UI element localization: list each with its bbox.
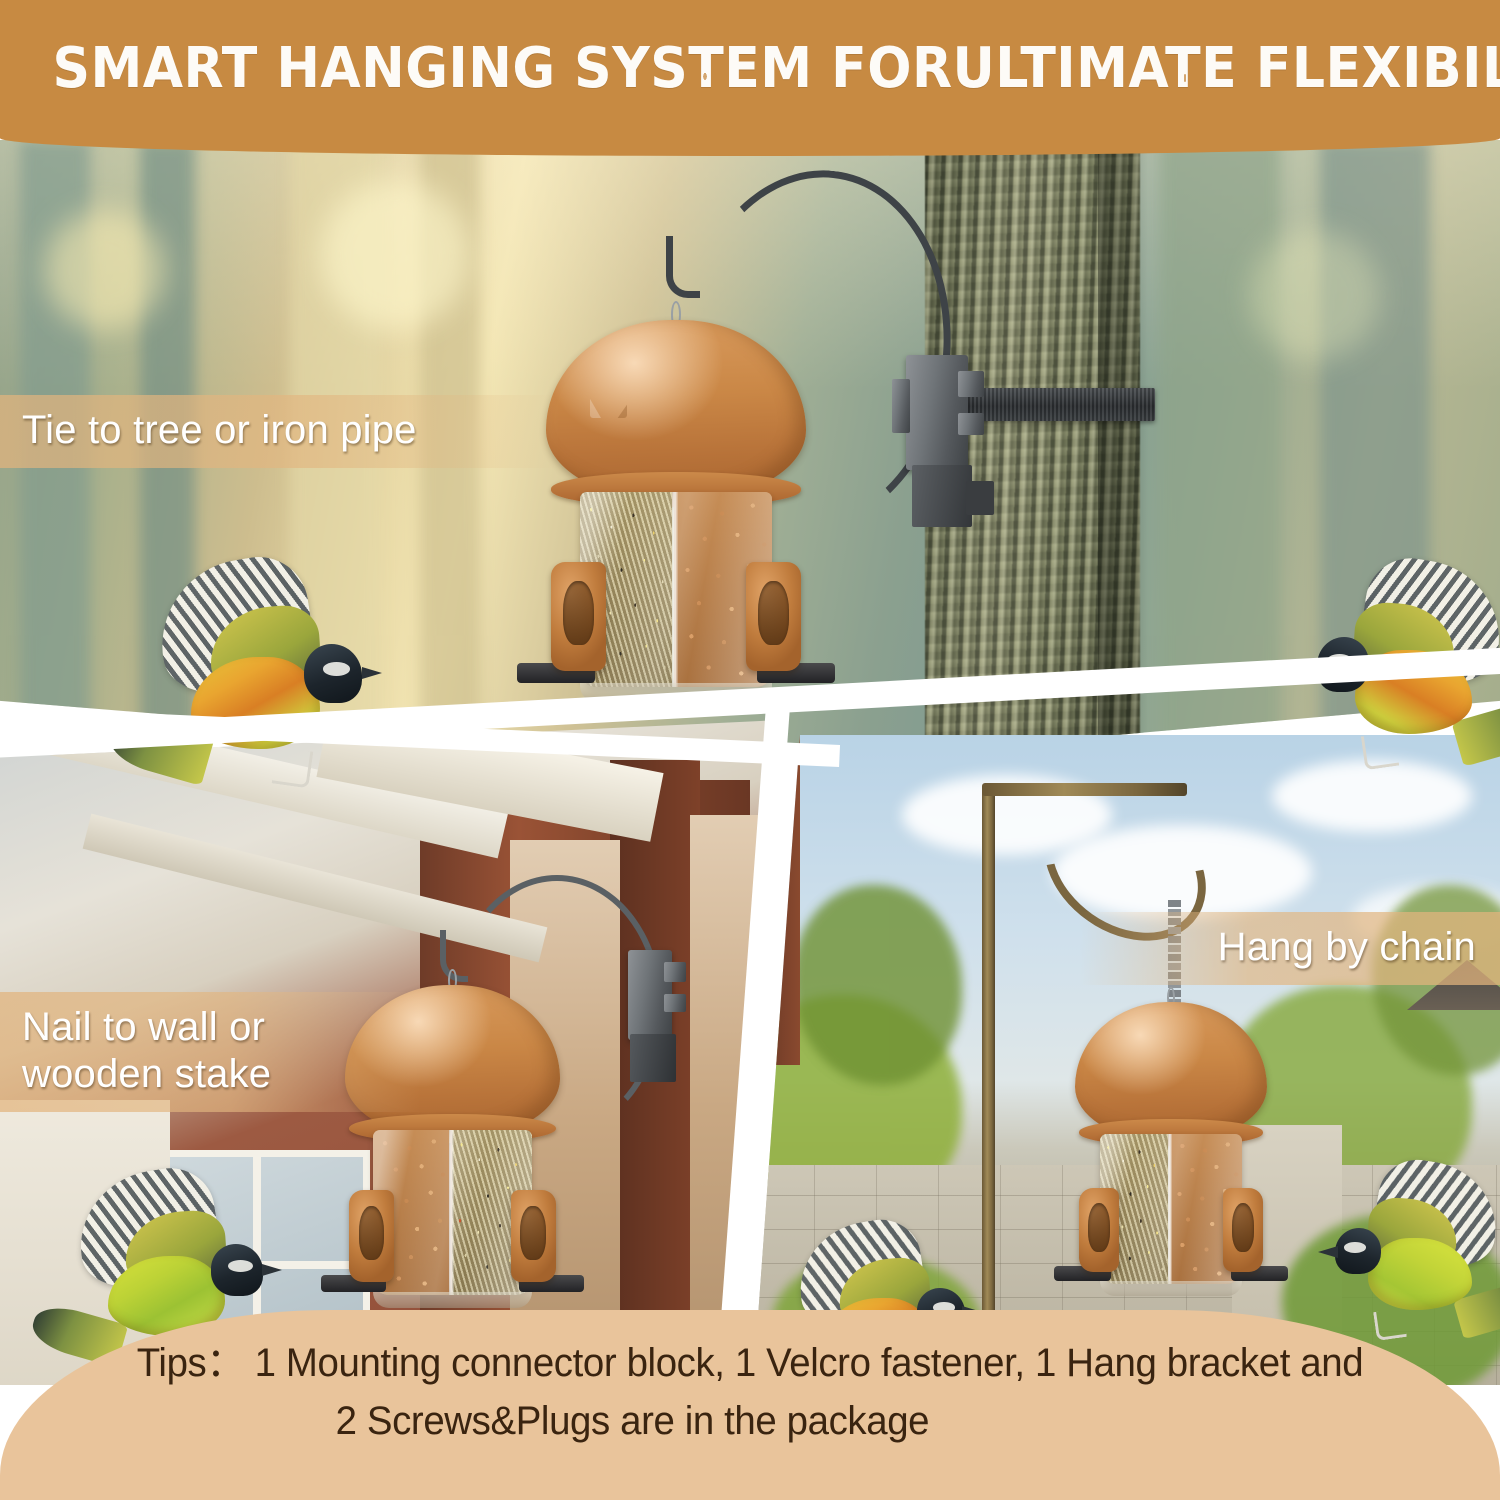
- caption-nail-to-wall: Nail to wall or wooden stake: [0, 992, 420, 1112]
- footer-tips-banner: Tips： 1 Mounting connector block, 1 Velc…: [0, 1310, 1500, 1500]
- bird-feeder-top: [546, 320, 806, 710]
- caption-tie-to-tree: Tie to tree or iron pipe: [0, 395, 560, 468]
- header-banner: SMART HANGING SYSTEM FORULTIMATE FLEXIBI…: [0, 0, 1500, 156]
- bird-left-top: [150, 570, 380, 800]
- wall-mount-bracket[interactable]: [628, 950, 672, 1040]
- s-hook: [666, 236, 700, 298]
- shepherd-hook-pole: [982, 790, 995, 1385]
- feeder-seed-chamber-chain: [1100, 1134, 1242, 1284]
- feeder-seed-chamber-wall: [373, 1130, 532, 1295]
- feed-port-right[interactable]: [746, 562, 801, 671]
- caption-hang-by-chain: Hang by chain: [1080, 912, 1500, 985]
- feed-port-right-wall[interactable]: [511, 1190, 556, 1282]
- infographic-root: Tie to tree or iron pipe Nail to wall or…: [0, 0, 1500, 1500]
- caption-hang-by-chain-text: Hang by chain: [1218, 925, 1476, 969]
- page-title: SMART HANGING SYSTEM FORULTIMATE FLEXIBI…: [53, 36, 1448, 101]
- footer-tips-line1: Tips： 1 Mounting connector block, 1 Velc…: [30, 1334, 1470, 1392]
- panel-collage: Tie to tree or iron pipe Nail to wall or…: [0, 140, 1500, 1385]
- plastic-gloss: [580, 492, 772, 687]
- caption-nail-line1: Nail to wall or: [22, 1004, 394, 1051]
- bird-feeder-chain: [1075, 1002, 1267, 1302]
- bird-right-garden: [1320, 1170, 1500, 1350]
- brand-logo-emboss: [590, 379, 626, 418]
- footer-tips-text: Tips： 1 Mounting connector block, 1 Velc…: [30, 1334, 1470, 1450]
- footer-tips-line2: 2 Screws&Plugs are in the package: [0, 1392, 1470, 1450]
- feed-port-left-wall[interactable]: [349, 1190, 394, 1282]
- feeder-seed-chamber: [580, 492, 772, 687]
- feed-port-right-chain[interactable]: [1223, 1188, 1263, 1272]
- caption-tie-to-tree-text: Tie to tree or iron pipe: [22, 408, 417, 452]
- mounting-connector-block[interactable]: [906, 355, 968, 470]
- feed-port-left-chain[interactable]: [1079, 1188, 1119, 1272]
- caption-nail-line2: wooden stake: [22, 1051, 394, 1098]
- feed-port-left[interactable]: [551, 562, 606, 671]
